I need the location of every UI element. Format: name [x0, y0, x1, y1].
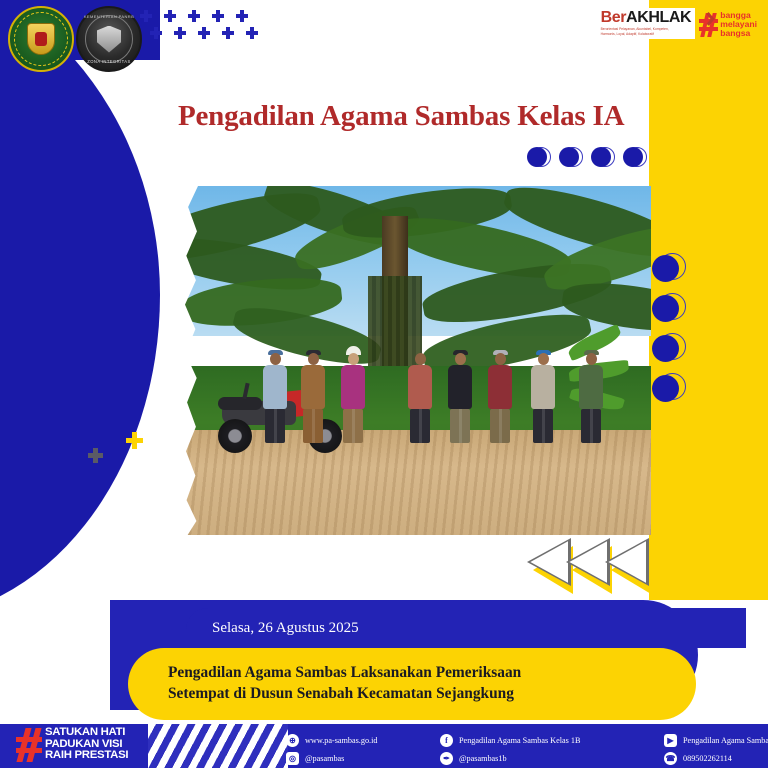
circle-icon — [559, 145, 583, 169]
plus-icon — [198, 27, 210, 39]
plus-icon — [164, 10, 176, 22]
plus-row — [150, 27, 258, 39]
seal-bottom-text: ZONA INTEGRITAS — [78, 59, 140, 64]
footer-contact-label: Pengadilan Agama Sambas Kelas 1B — [459, 736, 580, 745]
circle-icon — [652, 373, 686, 407]
poster-canvas: KEMENTERIAN PANRB ZONA INTEGRITAS BerAKH… — [0, 0, 768, 768]
person — [447, 350, 473, 443]
berakhlak-subtitle-line1: Berorientasi Pelayanan, Akuntabel, Kompe… — [601, 27, 692, 31]
globe-icon: ⊕ — [286, 734, 299, 747]
plus-icon — [222, 27, 234, 39]
circle-icon — [623, 145, 647, 169]
whatsapp-icon: ☎ — [664, 752, 677, 765]
youtube-icon: ▶ — [664, 734, 677, 747]
plus-icon — [188, 10, 200, 22]
motto-hashtag: SATUKAN HATI PADUKAN VISI RAIH PRESTASI — [16, 727, 128, 762]
plus-icon — [246, 27, 258, 39]
arrow-decoration — [527, 538, 657, 600]
diagonal-stripes-decoration — [148, 724, 288, 768]
footer-column: f Pengadilan Agama Sambas Kelas 1B ✒ @pa… — [440, 734, 640, 765]
news-photo — [172, 186, 651, 535]
person — [262, 350, 288, 443]
person — [340, 346, 366, 443]
chevron-right-icon — [706, 12, 716, 22]
footer-contact-columns: ⊕ www.pa-sambas.go.id ◎ @pasambas f Peng… — [286, 734, 768, 765]
footer-contact-item[interactable]: ▶ Pengadilan Agama Sambas — [664, 734, 768, 747]
circle-icon — [652, 253, 686, 287]
person — [578, 350, 604, 443]
footer-contact-label: @pasambas — [305, 754, 344, 763]
logo-group: KEMENTERIAN PANRB ZONA INTEGRITAS — [8, 6, 142, 72]
motto-line-1: SATUKAN HATI — [45, 727, 128, 739]
circle-icon — [527, 145, 551, 169]
footer-contact-item[interactable]: ◎ @pasambas — [286, 752, 416, 765]
footer-contact-item[interactable]: ✒ @pasambas1b — [440, 752, 640, 765]
seal-top-text: KEMENTERIAN PANRB — [78, 14, 140, 19]
berakhlak-title: BerAKHLAK — [601, 10, 692, 26]
date-text: Selasa, 26 Agustus 2025 — [212, 620, 359, 637]
left-blue-blob — [0, 0, 160, 620]
footer-column: ▶ Pengadilan Agama Sambas ☎ 089502262114 — [664, 734, 768, 765]
title-dot-decoration — [527, 145, 647, 169]
footer-contact-item[interactable]: ⊕ www.pa-sambas.go.id — [286, 734, 416, 747]
berakhlak-title-prefix: Ber — [601, 9, 626, 26]
bmb-tagline: bangga melayani bangsa — [720, 11, 757, 39]
circle-icon — [652, 293, 686, 327]
berakhlak-wordmark: BerAKHLAK Berorientasi Pelayanan, Akunta… — [599, 8, 696, 39]
plus-icon — [236, 10, 248, 22]
arrow-left-icon — [605, 538, 651, 594]
circle-icon — [591, 145, 615, 169]
berakhlak-logo: BerAKHLAK Berorientasi Pelayanan, Akunta… — [599, 8, 762, 42]
person — [530, 350, 556, 443]
plus-icon — [174, 27, 186, 39]
facebook-icon: f — [440, 734, 453, 747]
instagram-icon: ◎ — [286, 752, 299, 765]
footer-column: ⊕ www.pa-sambas.go.id ◎ @pasambas — [286, 734, 416, 765]
headline-box: Pengadilan Agama Sambas Laksanakan Pemer… — [128, 648, 696, 720]
footer-contact-item[interactable]: ☎ 089502262114 — [664, 752, 768, 765]
motto-line-3: RAIH PRESTASI — [45, 750, 128, 762]
footer-contact-label: 089502262114 — [683, 754, 732, 763]
person — [300, 350, 326, 443]
seal-crest — [27, 23, 55, 55]
hash-icon — [16, 728, 42, 762]
headline-line-2: Setempat di Dusun Senabah Kecamatan Seja… — [168, 684, 696, 705]
banana-plant — [565, 336, 645, 416]
photo-content — [172, 186, 651, 535]
tagline-line3: bangsa — [720, 29, 757, 38]
pengadilan-agama-sambas-seal-icon — [8, 6, 74, 72]
right-circle-decoration — [652, 253, 686, 413]
headline-line-1: Pengadilan Agama Sambas Laksanakan Pemer… — [168, 663, 696, 684]
plus-icon — [150, 27, 162, 39]
berakhlak-title-suffix: AKHLAK — [626, 9, 691, 26]
top-plus-decoration — [140, 10, 258, 44]
twitter-icon: ✒ — [440, 752, 453, 765]
footer-contact-label: www.pa-sambas.go.id — [305, 736, 377, 745]
person — [487, 350, 513, 443]
page-title: Pengadilan Agama Sambas Kelas IA — [178, 100, 624, 133]
motto-lines: SATUKAN HATI PADUKAN VISI RAIH PRESTASI — [45, 727, 128, 762]
footer-contact-label: @pasambas1b — [459, 754, 507, 763]
plus-row — [140, 10, 258, 22]
person — [407, 353, 433, 443]
circle-icon — [652, 333, 686, 367]
date-banner: Selasa, 26 Agustus 2025 — [186, 608, 746, 648]
berakhlak-subtitle-line2: Harmonis, Loyal, Adaptif, Kolaboratif — [601, 32, 692, 36]
plus-icon — [212, 10, 224, 22]
footer-contact-label: Pengadilan Agama Sambas — [683, 736, 768, 745]
zona-integritas-seal-icon: KEMENTERIAN PANRB ZONA INTEGRITAS — [76, 6, 142, 72]
footer-contact-item[interactable]: f Pengadilan Agama Sambas Kelas 1B — [440, 734, 640, 747]
